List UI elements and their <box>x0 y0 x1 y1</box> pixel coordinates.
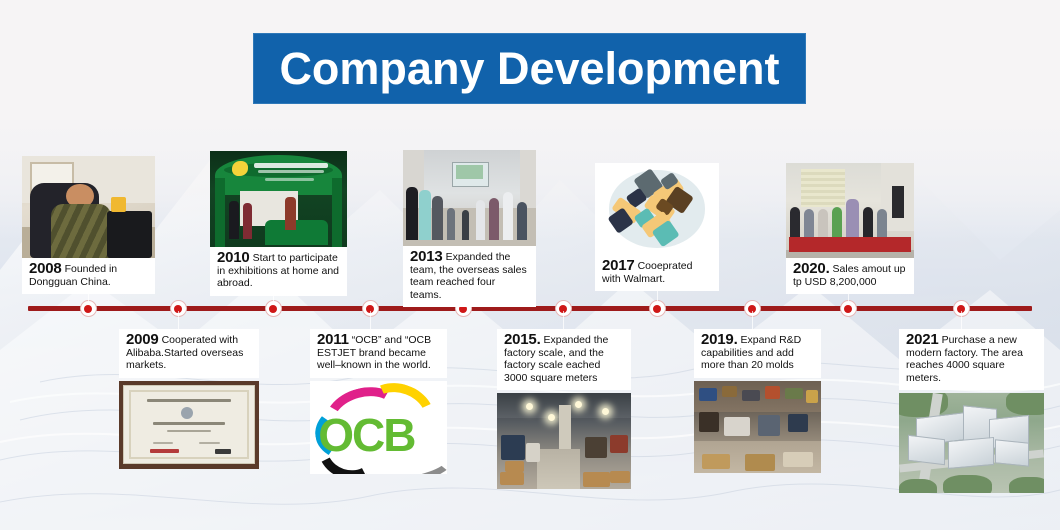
milestone-year-2019: 2019. <box>701 331 738 348</box>
timeline-marker-2010[interactable] <box>265 300 282 317</box>
milestone-image-2009 <box>119 381 259 469</box>
partnership-icon <box>609 170 706 247</box>
stem-2011 <box>370 311 371 329</box>
stem-2019 <box>752 311 753 329</box>
milestone-year-2013: 2013 <box>410 248 443 265</box>
milestone-year-2017: 2017 <box>602 257 635 274</box>
milestone-caption-2021: 2021Purchase a new modern factory. The a… <box>899 329 1044 390</box>
milestone-year-2021: 2021 <box>906 331 939 348</box>
page-title-banner: Company Development <box>253 33 806 104</box>
milestone-caption-2010: 2010Start to participate in exhibitions … <box>210 247 347 296</box>
milestone-caption-2009: 2009Cooperated with Alibaba.Started over… <box>119 329 259 378</box>
timeline-marker-2008[interactable] <box>80 300 97 317</box>
page-title: Company Development <box>279 46 779 91</box>
stem-2021 <box>961 311 962 329</box>
milestone-caption-2019: 2019.Expand R&D capabilities and add mor… <box>694 329 821 378</box>
milestone-card-2010[interactable]: 2010Start to participate in exhibitions … <box>210 151 347 296</box>
milestone-caption-2008: 2008Founded in Dongguan China. <box>22 258 155 294</box>
milestone-card-2011[interactable]: 2011“OCB” and “OCB ESTJET brand became w… <box>310 329 447 474</box>
milestone-caption-2015: 2015.Expanded the factory scale, and the… <box>497 329 631 390</box>
ocb-logo-text: OCB <box>318 412 439 458</box>
milestone-caption-2020: 2020.Sales amout up tp USD 8,200,000 <box>786 258 914 294</box>
milestone-year-2011: 2011 <box>317 331 349 348</box>
milestone-year-2010: 2010 <box>217 249 250 266</box>
milestone-caption-2013: 2013Expanded the team, the overseas sale… <box>403 246 536 307</box>
milestone-card-2013[interactable]: 2013Expanded the team, the overseas sale… <box>403 150 536 307</box>
timeline-marker-2020[interactable] <box>840 300 857 317</box>
milestone-image-2019 <box>694 381 821 473</box>
company-development-timeline-slide: Company Development 2008Founded in Dongg… <box>0 0 1060 530</box>
milestone-card-2008[interactable]: 2008Founded in Dongguan China. <box>22 156 155 294</box>
milestone-card-2021[interactable]: 2021Purchase a new modern factory. The a… <box>899 329 1044 493</box>
milestone-card-2015[interactable]: 2015.Expanded the factory scale, and the… <box>497 329 631 489</box>
milestone-card-2017[interactable]: 2017Cooeprated with Walmart. <box>595 163 719 291</box>
milestone-image-2020 <box>786 163 914 258</box>
milestone-card-2020[interactable]: 2020.Sales amout up tp USD 8,200,000 <box>786 163 914 294</box>
milestone-year-2008: 2008 <box>29 260 62 277</box>
milestone-year-2009: 2009 <box>126 331 159 348</box>
milestone-image-2015 <box>497 393 631 489</box>
milestone-image-2011: OCB <box>310 381 447 474</box>
milestone-image-2017 <box>595 163 719 255</box>
milestone-caption-2011: 2011“OCB” and “OCB ESTJET brand became w… <box>310 329 447 378</box>
stem-2015 <box>563 311 564 329</box>
milestone-caption-2017: 2017Cooeprated with Walmart. <box>595 255 719 291</box>
milestone-card-2019[interactable]: 2019.Expand R&D capabilities and add mor… <box>694 329 821 473</box>
milestone-image-2021 <box>899 393 1044 493</box>
timeline-marker-2017[interactable] <box>649 300 666 317</box>
milestone-year-2020: 2020. <box>793 260 830 277</box>
milestone-card-2009[interactable]: 2009Cooperated with Alibaba.Started over… <box>119 329 259 469</box>
milestone-image-2013 <box>403 150 536 246</box>
milestone-image-2010 <box>210 151 347 247</box>
stem-2009 <box>178 311 179 329</box>
milestone-year-2015: 2015. <box>504 331 541 348</box>
milestone-image-2008 <box>22 156 155 258</box>
